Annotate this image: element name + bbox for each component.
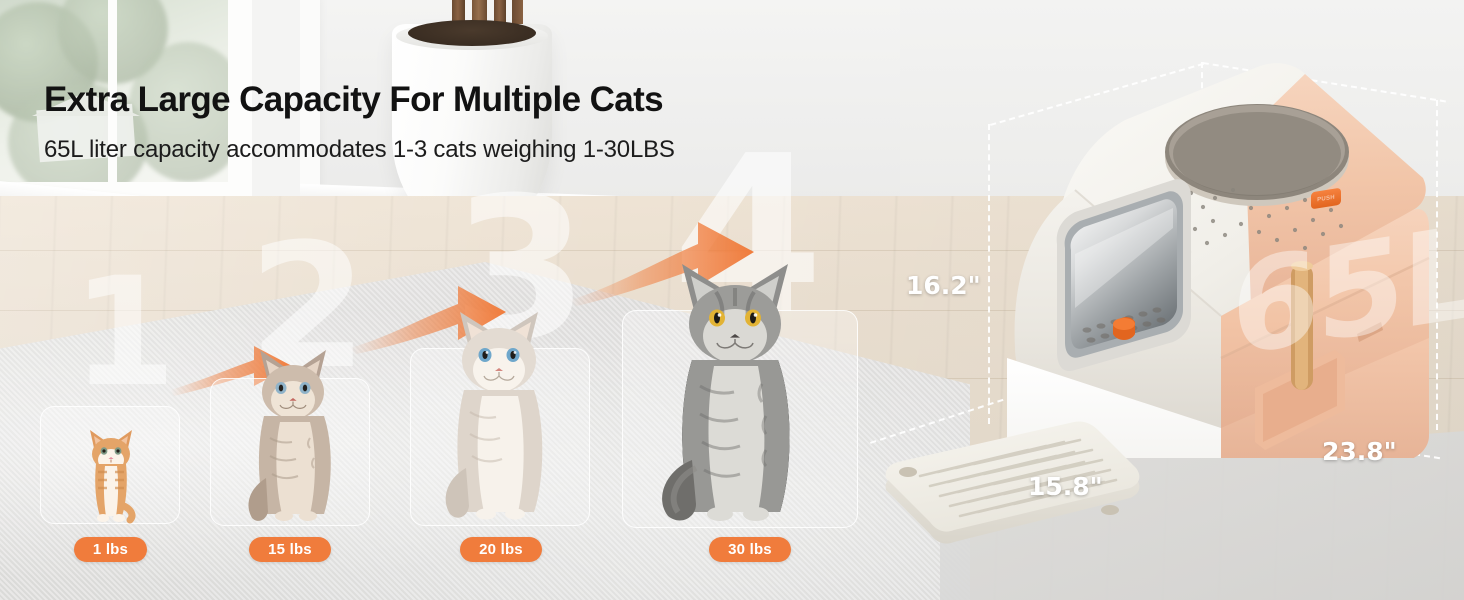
product-marketing-banner: 1 2 3 4 <box>0 0 1464 600</box>
dimension-label-width: 23.8" <box>1322 437 1397 466</box>
weight-badge-1: 1 lbs <box>74 537 147 562</box>
cat-image-2 <box>240 338 350 528</box>
step-number-1: 1 <box>72 272 176 395</box>
litter-mat <box>878 420 1148 570</box>
weight-badge-4: 30 lbs <box>709 537 791 562</box>
page-subtitle: 65L liter capacity accommodates 1-3 cats… <box>44 136 675 164</box>
cat-image-3 <box>436 300 566 526</box>
capacity-watermark: 65L <box>1231 208 1464 375</box>
page-title: Extra Large Capacity For Multiple Cats <box>44 80 663 120</box>
dimension-label-depth: 15.8" <box>1028 472 1103 501</box>
cat-image-1 <box>78 418 144 524</box>
weight-badge-2: 15 lbs <box>249 537 331 562</box>
cat-image-4 <box>652 254 832 528</box>
weight-badge-3: 20 lbs <box>460 537 542 562</box>
dimension-label-height: 16.2" <box>906 271 981 300</box>
planter-soil <box>408 20 536 46</box>
